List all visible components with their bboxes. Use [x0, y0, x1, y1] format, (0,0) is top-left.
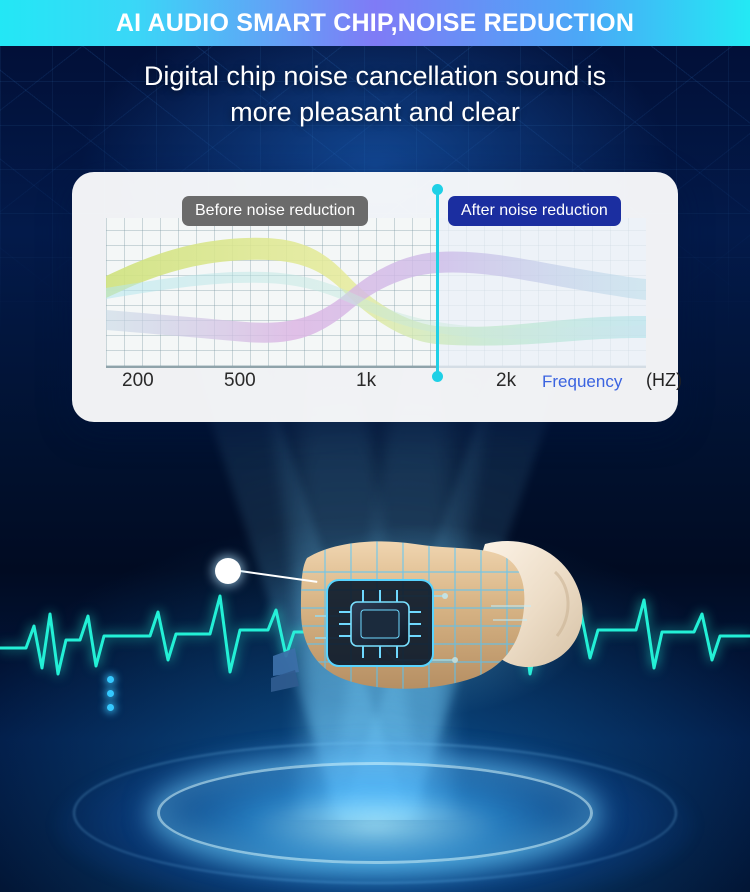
- axis-label-unit: (HZ): [646, 370, 682, 391]
- accent-dot-2: [107, 690, 114, 697]
- axis-tick-200: 200: [122, 370, 154, 392]
- glow-ring-inner: [157, 762, 593, 864]
- chart-waveforms: [106, 218, 646, 368]
- banner-title: AI AUDIO SMART CHIP,NOISE REDUCTION: [116, 9, 634, 38]
- axis-label-frequency: Frequency: [542, 372, 622, 392]
- axis-tick-2k: 2k: [496, 370, 516, 392]
- chart-plot-area: [106, 218, 646, 368]
- headline-line-2: more pleasant and clear: [0, 94, 750, 130]
- noise-reduction-chart-card: Before noise reduction After noise reduc…: [72, 172, 678, 422]
- axis-tick-500: 500: [224, 370, 256, 392]
- label-before-noise-reduction: Before noise reduction: [182, 196, 368, 226]
- headline-line-1: Digital chip noise cancellation sound is: [0, 58, 750, 94]
- callout-dot: [215, 558, 241, 584]
- label-after-noise-reduction: After noise reduction: [448, 196, 621, 226]
- hearing-aid-device: [255, 520, 615, 740]
- accent-dot-3: [107, 704, 114, 711]
- before-after-divider: [436, 190, 439, 376]
- headline: Digital chip noise cancellation sound is…: [0, 58, 750, 130]
- top-banner: AI AUDIO SMART CHIP,NOISE REDUCTION: [0, 0, 750, 46]
- page-root: AI AUDIO SMART CHIP,NOISE REDUCTION Digi…: [0, 0, 750, 892]
- accent-dot-1: [107, 676, 114, 683]
- axis-tick-1k: 1k: [356, 370, 376, 392]
- chart-x-axis: 200 500 1k 2k Frequency (HZ): [106, 370, 684, 396]
- chip-graphic: [327, 580, 433, 666]
